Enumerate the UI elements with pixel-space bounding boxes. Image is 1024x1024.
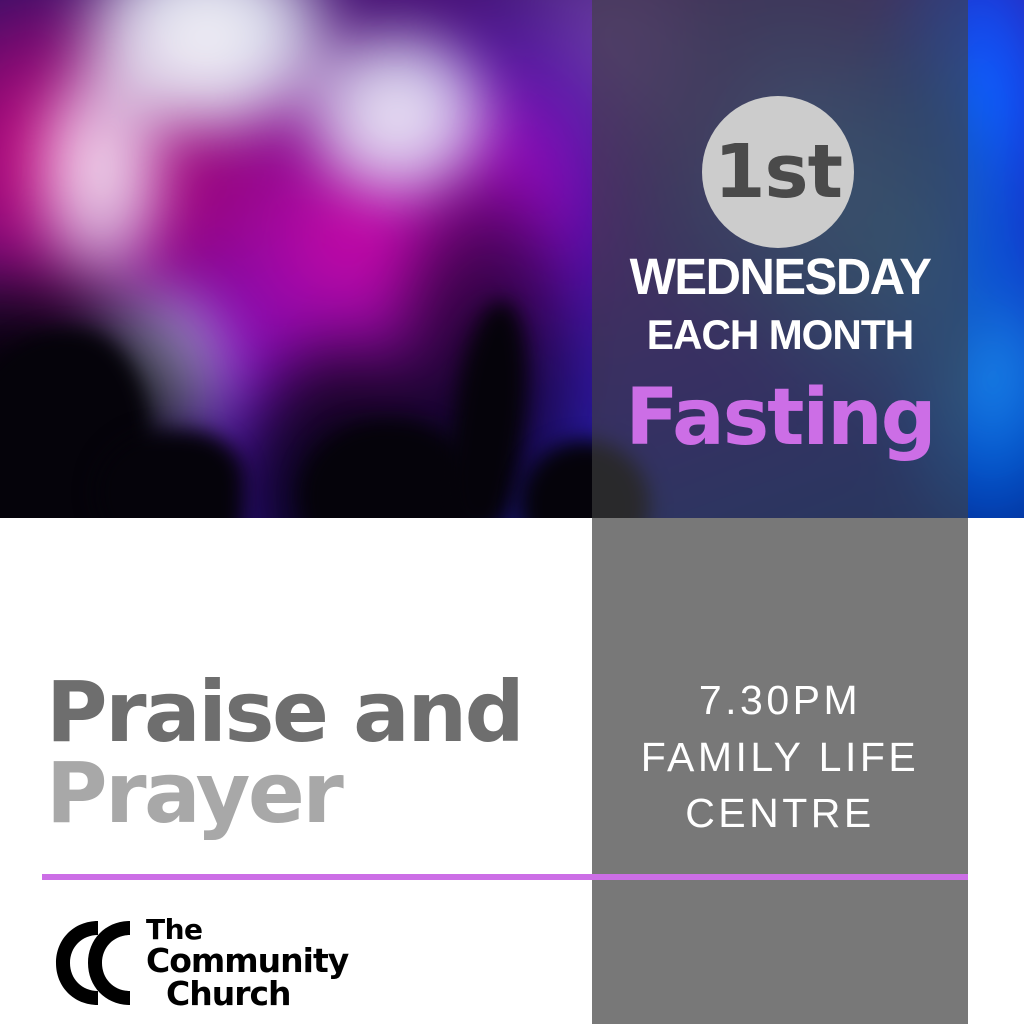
activity-label: Fasting xyxy=(592,379,968,457)
accent-divider-line xyxy=(42,874,968,880)
event-title-line-1: Praise and xyxy=(46,672,586,753)
logo-line-the: The xyxy=(146,916,348,944)
logo-line-church: Church xyxy=(166,977,348,1010)
ordinal-badge-label: 1st xyxy=(714,135,842,209)
schedule-block: 1st WEDNESDAY EACH MONTH Fasting xyxy=(592,0,968,518)
event-title: Praise and Prayer xyxy=(46,672,586,835)
ordinal-badge: 1st xyxy=(702,96,854,248)
church-logo: The Community Church xyxy=(52,916,348,1010)
logo-wordmark: The Community Church xyxy=(146,916,348,1010)
poster-canvas: 1st WEDNESDAY EACH MONTH Fasting Praise … xyxy=(0,0,1024,1024)
event-details: 7.30PM FAMILY LIFE CENTRE xyxy=(592,672,968,842)
weekday-label: WEDNESDAY xyxy=(600,251,961,302)
double-c-arc-icon xyxy=(52,917,140,1009)
event-venue-line-2: CENTRE xyxy=(592,785,968,842)
logo-line-community: Community xyxy=(146,944,348,977)
event-title-line-2: Prayer xyxy=(46,753,586,834)
event-time: 7.30PM xyxy=(592,672,968,729)
event-venue-line-1: FAMILY LIFE xyxy=(592,729,968,786)
frequency-label: EACH MONTH xyxy=(598,314,963,356)
